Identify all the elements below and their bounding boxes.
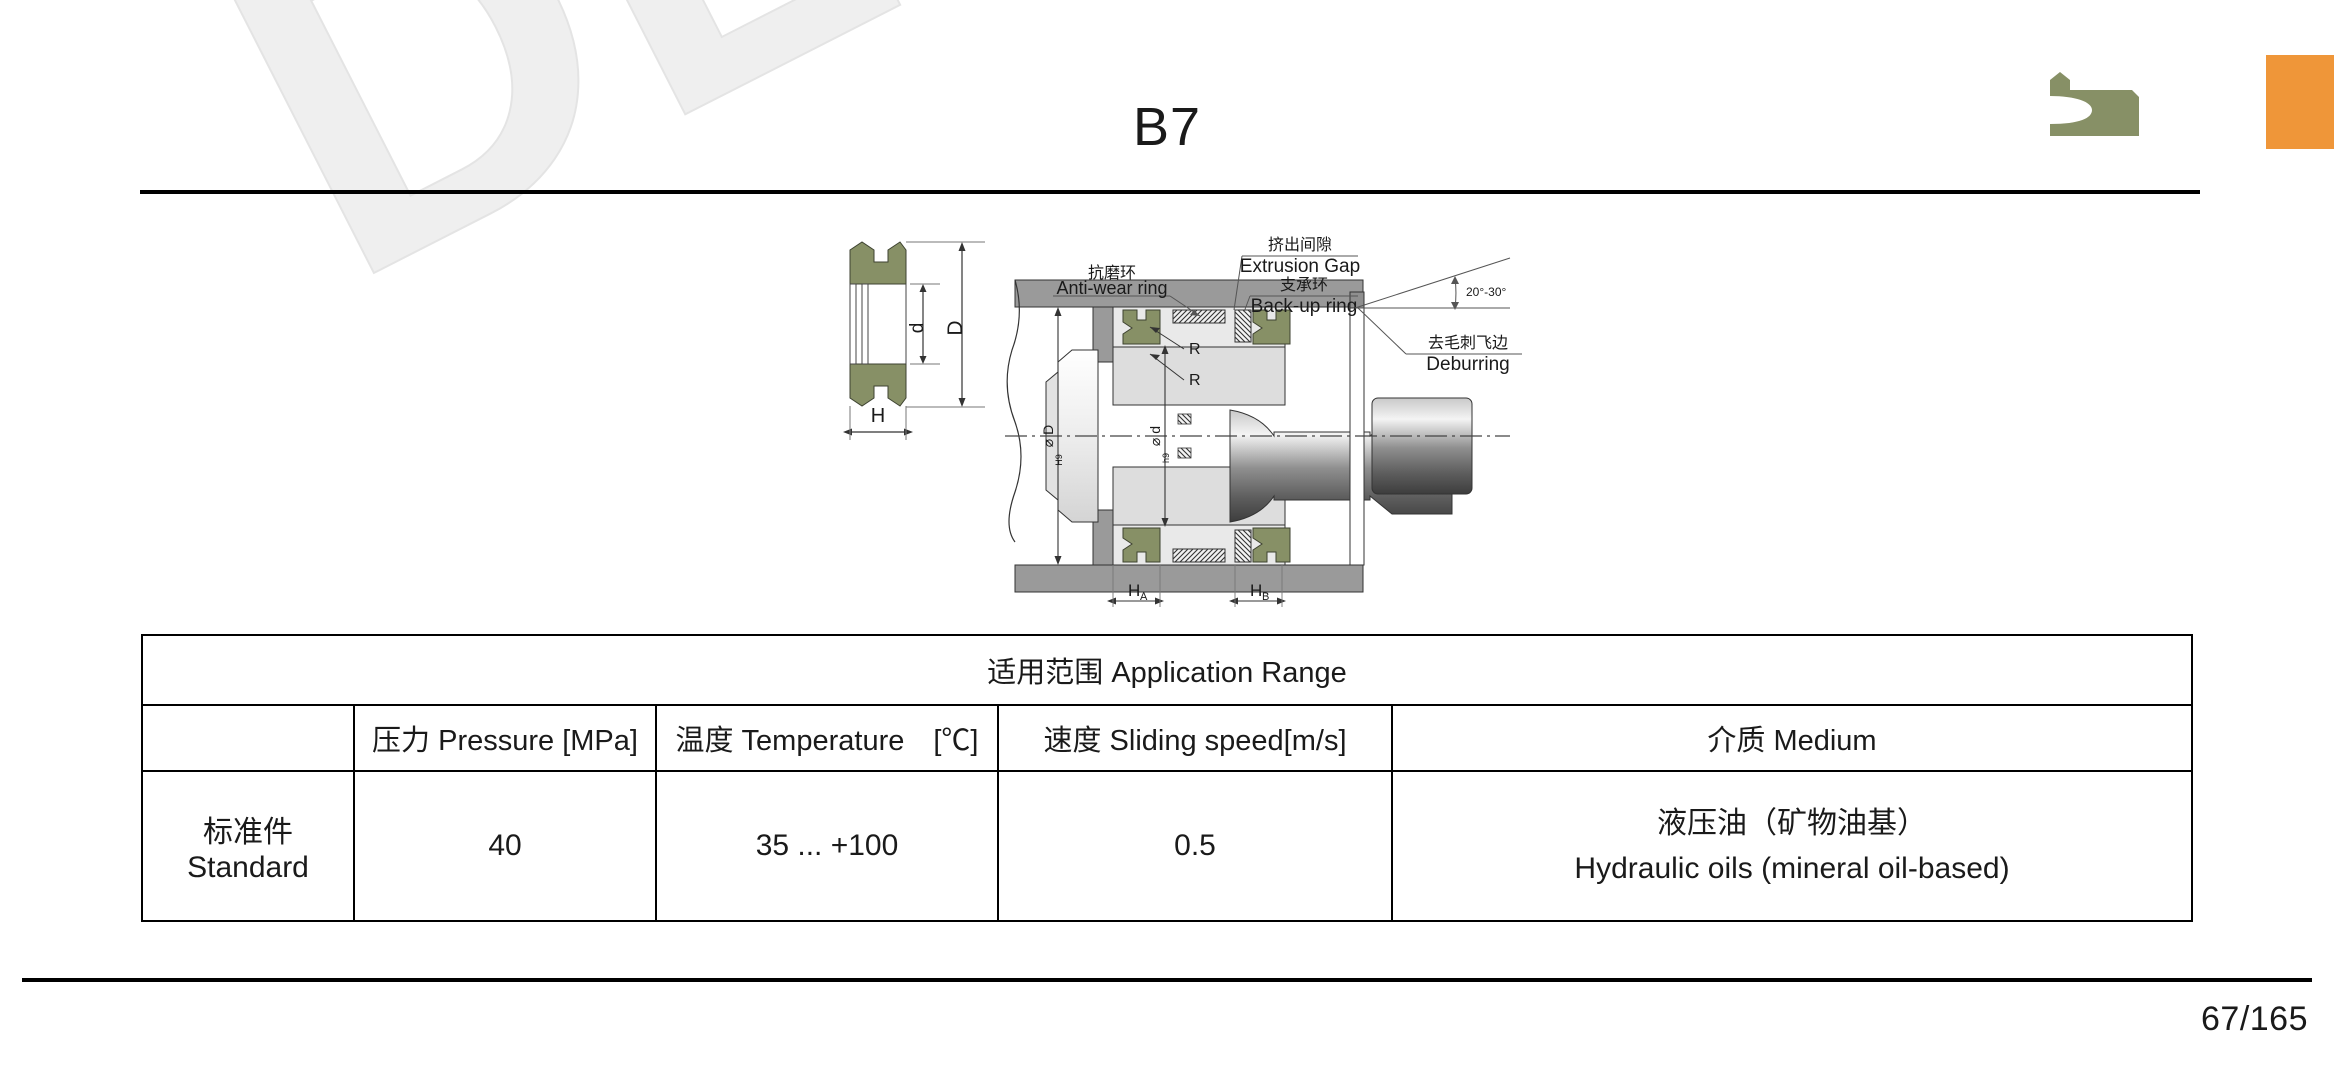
table-header-temperature: 温度 Temperature [℃] xyxy=(656,705,998,771)
dim-bore-tolerance: H9 xyxy=(1054,454,1064,466)
table-title: 适用范围 Application Range xyxy=(142,635,2192,705)
page-title: B7 xyxy=(0,96,2334,158)
callout-extrusion-gap-en: Extrusion Gap xyxy=(1240,256,1360,277)
callout-back-up-ring-en: Back-up ring xyxy=(1251,296,1358,317)
table-title-row: 适用范围 Application Range xyxy=(142,635,2192,705)
cell-medium-cn: 液压油（矿物油基） xyxy=(1399,801,2185,846)
seal-installation-cross-section: d D H xyxy=(810,232,1530,612)
row-label-standard: 标准件 Standard xyxy=(142,771,354,921)
seal-profile-view: d D H xyxy=(843,242,985,440)
angle-label: 20°-30° xyxy=(1466,285,1506,299)
table-header-medium: 介质 Medium xyxy=(1392,705,2192,771)
cell-speed-value: 0.5 xyxy=(998,771,1392,921)
dim-groove-b-sub: B xyxy=(1262,591,1269,603)
dim-rod-diameter: ⌀ d xyxy=(1147,426,1163,446)
radius-label-lower: R xyxy=(1189,372,1201,389)
dim-bore-diameter: ⌀ D xyxy=(1040,425,1056,447)
dim-outer-diameter: D xyxy=(944,320,967,335)
dim-inner-diameter: d xyxy=(907,323,928,334)
callout-deburring: 去毛刺飞边 Deburring xyxy=(1358,308,1522,375)
header-divider xyxy=(140,190,2200,194)
table-header-speed: 速度 Sliding speed[m/s] xyxy=(998,705,1392,771)
callout-back-up-ring-cn: 支承环 xyxy=(1280,276,1328,294)
callout-deburring-cn: 去毛刺飞边 xyxy=(1428,334,1508,352)
angle-callout: 20°-30° xyxy=(1355,258,1510,310)
dim-height: H xyxy=(871,405,885,427)
table-header-row: 压力 Pressure [MPa] 温度 Temperature [℃] 速度 … xyxy=(142,705,2192,771)
footer-divider xyxy=(22,978,2312,982)
callout-deburring-en: Deburring xyxy=(1426,354,1509,375)
cell-pressure-value: 40 xyxy=(354,771,656,921)
u-cup-seal-profile-icon xyxy=(2026,64,2146,140)
callout-anti-wear-ring-en: Anti-wear ring xyxy=(1056,278,1167,298)
cell-medium-value: 液压油（矿物油基） Hydraulic oils (mineral oil-ba… xyxy=(1392,771,2192,921)
dim-rod-tolerance: h9 xyxy=(1161,453,1171,463)
application-range-table: 适用范围 Application Range 压力 Pressure [MPa]… xyxy=(141,634,2193,922)
cell-medium-en: Hydraulic oils (mineral oil-based) xyxy=(1399,846,2185,891)
table-header-pressure: 压力 Pressure [MPa] xyxy=(354,705,656,771)
dim-groove-b: H xyxy=(1250,581,1262,600)
dim-groove-a-sub: A xyxy=(1140,591,1148,603)
table-row: 标准件 Standard 40 35 ... +100 0.5 液压油（矿物油基… xyxy=(142,771,2192,921)
callout-extrusion-gap-cn: 挤出间隙 xyxy=(1268,236,1332,254)
cell-temperature-value: 35 ... +100 xyxy=(656,771,998,921)
radius-label-upper: R xyxy=(1189,341,1201,358)
page-number: 67/165 xyxy=(2201,1000,2308,1039)
section-tab xyxy=(2266,55,2334,149)
table-header-blank xyxy=(142,705,354,771)
dim-groove-a: H xyxy=(1128,581,1140,600)
installation-assembly-view: ⌀ D H9 ⌀ d h9 R R H A H B xyxy=(1005,236,1522,607)
